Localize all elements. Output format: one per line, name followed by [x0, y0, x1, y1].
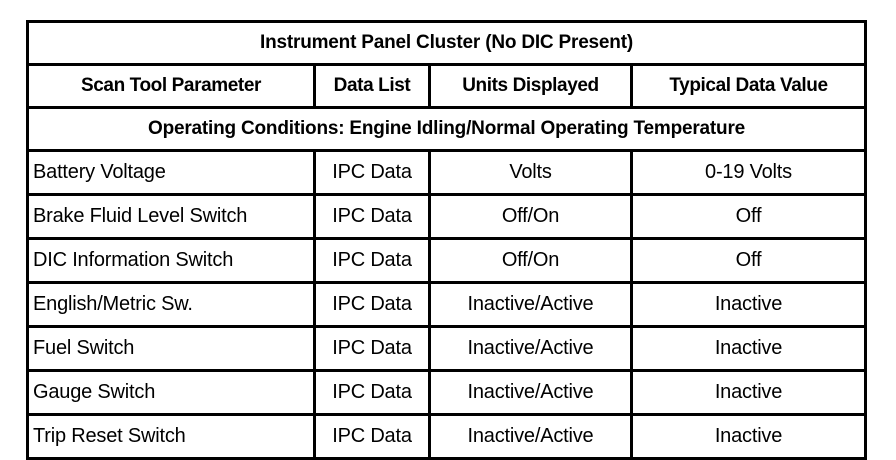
cell-data-list: IPC Data — [315, 195, 430, 239]
operating-conditions-text: Operating Conditions: Engine Idling/Norm… — [28, 108, 866, 151]
cell-data-list: IPC Data — [315, 371, 430, 415]
cell-units: Inactive/Active — [430, 327, 632, 371]
operating-conditions-row: Operating Conditions: Engine Idling/Norm… — [28, 108, 866, 151]
cell-units: Off/On — [430, 239, 632, 283]
instrument-panel-cluster-table: Instrument Panel Cluster (No DIC Present… — [26, 20, 867, 460]
table-row: DIC Information Switch IPC Data Off/On O… — [28, 239, 866, 283]
table-header-row: Scan Tool Parameter Data List Units Disp… — [28, 65, 866, 108]
table-row: English/Metric Sw. IPC Data Inactive/Act… — [28, 283, 866, 327]
cell-typical-value: Inactive — [632, 283, 866, 327]
table-row: Gauge Switch IPC Data Inactive/Active In… — [28, 371, 866, 415]
table-title-row: Instrument Panel Cluster (No DIC Present… — [28, 22, 866, 65]
cell-data-list: IPC Data — [315, 151, 430, 195]
column-header-scan-tool-parameter: Scan Tool Parameter — [28, 65, 315, 108]
cell-parameter: Gauge Switch — [28, 371, 315, 415]
column-header-data-list: Data List — [315, 65, 430, 108]
cell-typical-value: Inactive — [632, 327, 866, 371]
cell-units: Inactive/Active — [430, 283, 632, 327]
cell-units: Inactive/Active — [430, 371, 632, 415]
table-title: Instrument Panel Cluster (No DIC Present… — [28, 22, 866, 65]
cell-parameter: Brake Fluid Level Switch — [28, 195, 315, 239]
cell-data-list: IPC Data — [315, 327, 430, 371]
table-row: Fuel Switch IPC Data Inactive/Active Ina… — [28, 327, 866, 371]
cell-typical-value: Off — [632, 239, 866, 283]
cell-parameter: English/Metric Sw. — [28, 283, 315, 327]
cell-units: Off/On — [430, 195, 632, 239]
cell-parameter: DIC Information Switch — [28, 239, 315, 283]
column-header-typical-data-value: Typical Data Value — [632, 65, 866, 108]
table-row: Brake Fluid Level Switch IPC Data Off/On… — [28, 195, 866, 239]
cell-parameter: Battery Voltage — [28, 151, 315, 195]
cell-typical-value: 0-19 Volts — [632, 151, 866, 195]
cell-typical-value: Off — [632, 195, 866, 239]
spec-table-container: Instrument Panel Cluster (No DIC Present… — [26, 20, 864, 428]
cell-data-list: IPC Data — [315, 239, 430, 283]
cell-parameter: Fuel Switch — [28, 327, 315, 371]
column-header-units-displayed: Units Displayed — [430, 65, 632, 108]
cell-data-list: IPC Data — [315, 283, 430, 327]
table-row: Battery Voltage IPC Data Volts 0-19 Volt… — [28, 151, 866, 195]
cell-typical-value: Inactive — [632, 371, 866, 415]
cell-units: Volts — [430, 151, 632, 195]
